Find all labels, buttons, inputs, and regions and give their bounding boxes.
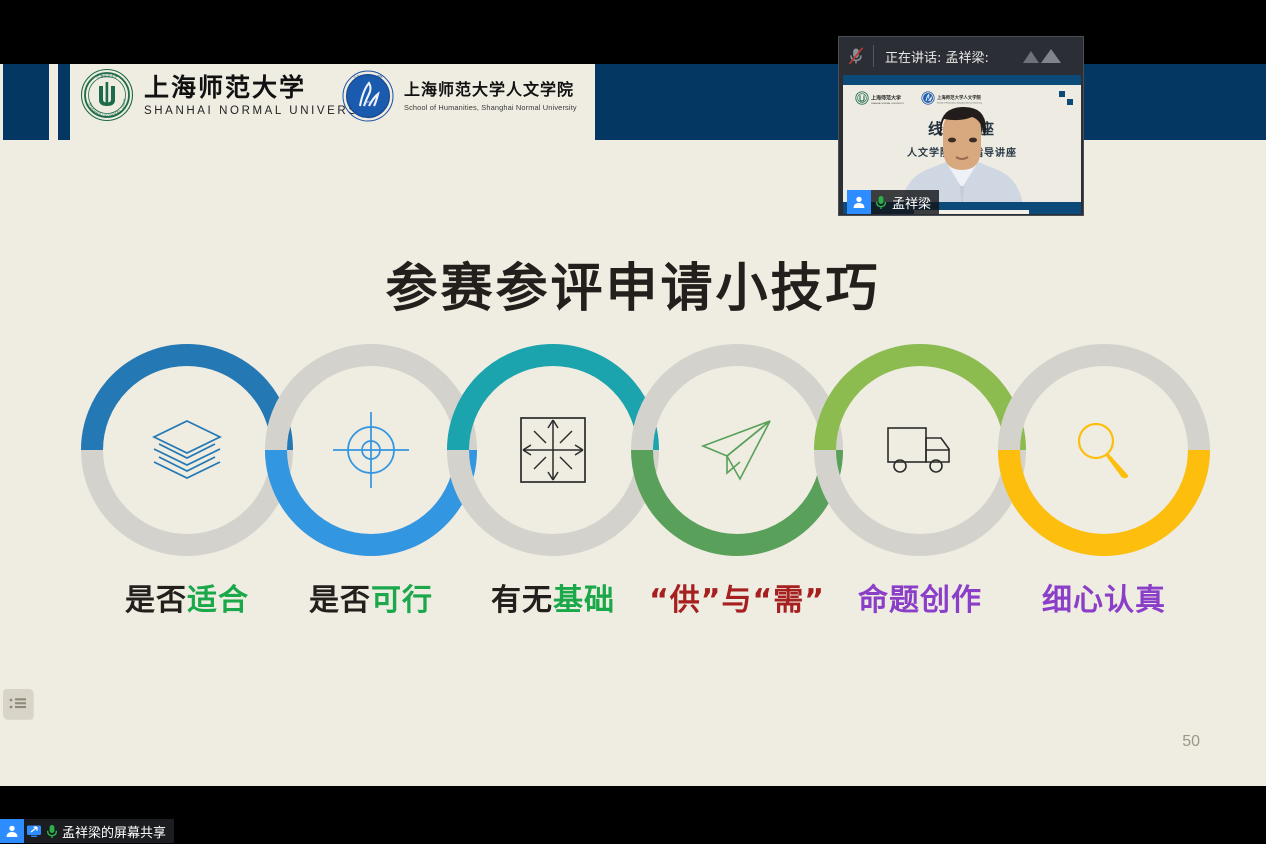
magnifier-icon xyxy=(994,340,1214,560)
step-label-1-prefix: 是否 xyxy=(125,583,187,618)
screen-share-icon xyxy=(24,824,44,838)
header-block-left-thin xyxy=(58,64,70,140)
audio-wave-icon xyxy=(1021,47,1069,67)
svg-text:1954: 1954 xyxy=(365,100,372,104)
screen-share-indicator[interactable]: 孟祥梁的屏幕共享 xyxy=(0,819,174,843)
microphone-icon xyxy=(871,195,891,210)
thumb-slide-corner-marks xyxy=(1059,91,1073,105)
slide-logos: 上海师范大学 SHANHAI NORMAL UNIVERSITY 上海师范大学 … xyxy=(80,64,595,140)
step-label-3-prefix: 有无 xyxy=(491,583,553,618)
participant-name-tag: 孟祥梁 xyxy=(847,190,939,214)
step-labels: 是否适合 是否可行 有无基础 “供”与“需” 命题创作 细心认真 xyxy=(0,575,1266,625)
user-icon xyxy=(0,819,24,843)
screen-share-view: 上海师范大学 SHANHAI NORMAL UNIVERSITY 上海师范大学 … xyxy=(0,0,1266,844)
page-title: 参赛参评申请小技巧 xyxy=(0,246,1266,321)
step-label-2-accent: 可行 xyxy=(371,583,433,618)
header-block-left xyxy=(3,64,49,140)
shanghai-normal-university-seal-icon: 上海师范大学 SHANHAI NORMAL UNIVERSITY xyxy=(80,68,134,122)
process-ring-chain xyxy=(0,340,1266,570)
step-label-6-accent: 细心认真 xyxy=(1042,583,1166,618)
video-panel-titlebar[interactable]: 正在讲话: 孟祥梁: xyxy=(839,37,1083,75)
logo-en-text: School of Humanities, Shanghai Normal Un… xyxy=(404,103,577,112)
microphone-icon xyxy=(44,824,60,839)
step-label-1-accent: 适合 xyxy=(187,583,249,618)
step-label-2-prefix: 是否 xyxy=(309,583,371,618)
logo-shanghai-normal-university: 上海师范大学 SHANHAI NORMAL UNIVERSITY 上海师范大学 … xyxy=(80,68,384,122)
step-label-3-accent: 基础 xyxy=(553,583,615,618)
participant-name-label: 孟祥梁 xyxy=(891,193,939,212)
active-speaker-video-panel[interactable]: 正在讲话: 孟祥梁: 上海师范大学 SHANHAI NORMAL UNIVERS… xyxy=(838,36,1084,216)
video-feed[interactable]: 上海师范大学 SHANHAI NORMAL UNIVERSITY 上海师范大学人… xyxy=(843,75,1081,214)
svg-text:上海师范大学: 上海师范大学 xyxy=(96,74,118,79)
logo-school-of-humanities: 1954 上海师范大学人文学院 SCHOOL OF HUMANITIES 上海师… xyxy=(342,70,577,122)
list-icon[interactable] xyxy=(3,689,33,719)
thumb-slide-topbar xyxy=(843,78,1081,85)
step-label-5-accent: 命题创作 xyxy=(858,583,982,618)
school-of-humanities-seal-icon: 1954 上海师范大学人文学院 SCHOOL OF HUMANITIES xyxy=(342,70,394,122)
logo-cn-text: 上海师范大学人文学院 xyxy=(404,80,577,100)
slide-page-number: 50 xyxy=(1182,733,1200,751)
speaking-status-label: 正在讲话: 孟祥梁: xyxy=(885,47,989,66)
step-label-6: 细心认真 xyxy=(994,575,1214,619)
step-ring-6 xyxy=(994,340,1214,560)
user-icon xyxy=(847,190,871,214)
step-label-4-accent: “供”与“需” xyxy=(649,583,825,618)
mic-muted-icon[interactable] xyxy=(839,47,873,65)
screen-share-label: 孟祥梁的屏幕共享 xyxy=(60,822,174,841)
bottom-taskbar: 孟祥梁的屏幕共享 xyxy=(0,816,1266,844)
titlebar-divider xyxy=(873,45,874,67)
svg-text:上海师范大学人文学院: 上海师范大学人文学院 xyxy=(354,73,383,78)
